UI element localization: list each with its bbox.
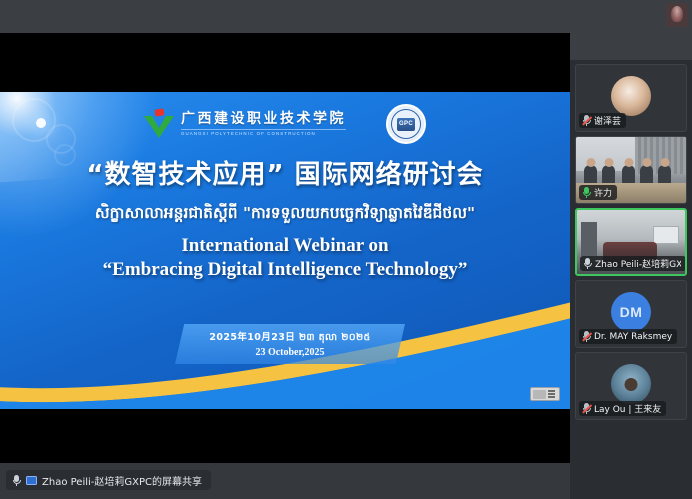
- rail-top-bar: [570, 0, 692, 60]
- slide-title-block: “数智技术应用” 国际网络研讨会 សិក្ខាសាលាអន្តរជាតិស្តី…: [0, 154, 570, 281]
- participant-tile-xuli[interactable]: 许力: [575, 136, 687, 204]
- seal-text: GPC: [397, 118, 415, 131]
- participant-name: Lay Ou | 王来友: [594, 402, 661, 415]
- participant-rail[interactable]: 谢泽芸 许力: [570, 60, 692, 499]
- microphone-icon: [583, 258, 592, 269]
- slide-date-cn-km: 2025年10月23日 ២៣ តុលា ២០២៥: [185, 329, 395, 345]
- screen-share-icon: [26, 476, 37, 485]
- slide-title-khmer: សិក្ខាសាលាអន្តរជាតិស្តីពី "ការទទួលយកបច្ច…: [10, 203, 560, 226]
- participant-tile-may-raksmey[interactable]: DM Dr. MAY Raksmey: [575, 280, 687, 348]
- slide-date-banner: 2025年10月23日 ២៣ តុលា ២០២៥ 23 October,2025: [175, 324, 405, 364]
- shared-screen-stage[interactable]: 广西建设职业技术学院 GUANGXI POLYTECHNIC OF CONSTR…: [0, 33, 570, 463]
- participant-name: Zhao Peili-赵培莉GXPC: [595, 257, 681, 270]
- slide-title-english-line2: “Embracing Digital Intelligence Technolo…: [10, 259, 560, 281]
- slide-title-english-line1: International Webinar on: [10, 235, 560, 257]
- participant-name: 许力: [594, 186, 612, 199]
- avatar: [611, 76, 651, 116]
- participant-name-chip: Dr. MAY Raksmey: [579, 329, 677, 344]
- microphone-muted-icon: [582, 331, 591, 342]
- microphone-muted-icon: [582, 115, 591, 126]
- screen-share-indicator[interactable]: Zhao Peili-赵培莉GXPC的屏幕共享: [6, 470, 211, 490]
- presentation-slide: 广西建设职业技术学院 GUANGXI POLYTECHNIC OF CONSTR…: [0, 92, 570, 409]
- screen-share-label: Zhao Peili-赵培莉GXPC的屏幕共享: [42, 473, 202, 488]
- microphone-icon: [12, 475, 21, 486]
- participant-tile-zhao-peili[interactable]: Zhao Peili-赵培莉GXPC: [575, 208, 687, 276]
- slide-logo-row: 广西建设职业技术学院 GUANGXI POLYTECHNIC OF CONSTR…: [0, 104, 570, 144]
- slide-widget-preview-icon: [533, 390, 546, 399]
- microphone-on-icon: [582, 187, 591, 198]
- self-view-thumbnail[interactable]: [666, 3, 688, 27]
- meeting-window: 广西建设职业技术学院 GUANGXI POLYTECHNIC OF CONSTR…: [0, 0, 692, 499]
- participant-name: 谢泽芸: [594, 114, 621, 127]
- participant-name: Dr. MAY Raksmey: [594, 332, 672, 342]
- microphone-muted-icon: [582, 403, 591, 414]
- slide-control-widget[interactable]: [530, 387, 560, 401]
- participant-name-chip: 许力: [579, 185, 617, 200]
- university-name-en: GUANGXI POLYTECHNIC OF CONSTRUCTION: [181, 129, 346, 136]
- participant-name-chip: 谢泽芸: [579, 113, 626, 128]
- window-top-bar: [0, 0, 570, 33]
- slide-date-en: 23 October,2025: [185, 347, 395, 358]
- slide-widget-menu-icon: [548, 390, 555, 398]
- bottom-bar: Zhao Peili-赵培莉GXPC的屏幕共享: [0, 463, 570, 499]
- participant-tile-lay-ou[interactable]: Lay Ou | 王来友: [575, 352, 687, 420]
- university-seal-icon: GPC: [386, 104, 426, 144]
- avatar-initials: DM: [611, 292, 651, 332]
- university-mark-icon: [144, 109, 174, 139]
- participant-tile-xiezeyun[interactable]: 谢泽芸: [575, 64, 687, 132]
- self-view-image: [671, 6, 683, 22]
- participant-name-chip: Lay Ou | 王来友: [579, 401, 666, 416]
- avatar: [611, 364, 651, 404]
- slide-title-chinese: “数智技术应用” 国际网络研讨会: [10, 154, 560, 191]
- university-name-cn: 广西建设职业技术学院: [181, 112, 346, 126]
- university-logo: 广西建设职业技术学院 GUANGXI POLYTECHNIC OF CONSTR…: [144, 109, 346, 139]
- participant-name-chip: Zhao Peili-赵培莉GXPC: [580, 256, 686, 271]
- avatar-initials-text: DM: [620, 304, 643, 320]
